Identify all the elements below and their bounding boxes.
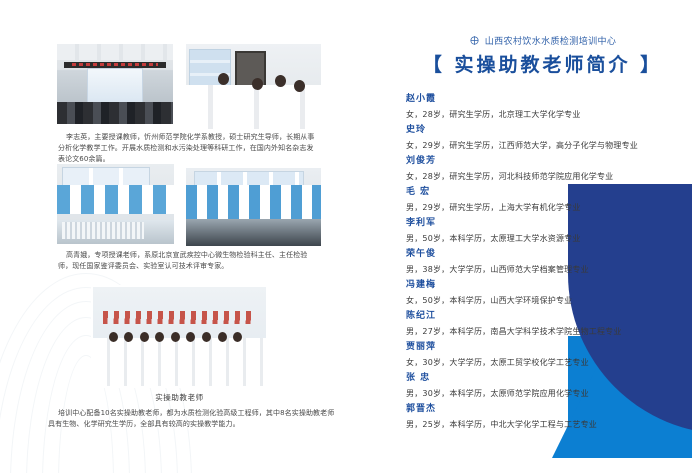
list-item: 李利军 男，50岁，本科学历，太原理工大学水资源专业	[406, 216, 668, 246]
staff-desc: 女，28岁，研究生学历，北京理工大学化学专业	[406, 107, 668, 122]
page-title: 【 实操助教老师简介 】	[405, 50, 680, 77]
photo-lab-training-2	[186, 168, 321, 246]
staff-desc: 男，27岁，本科学历，南昌大学科学技术学院生物工程专业	[406, 324, 668, 339]
staff-desc: 女，30岁，大学学历，太原工贸学校化学工艺专业	[406, 355, 668, 370]
staff-name: 陈纪江	[406, 309, 668, 324]
list-item: 陈纪江 男，27岁，本科学历，南昌大学科学技术学院生物工程专业	[406, 309, 668, 339]
staff-desc: 女，28岁，研究生学历，河北科技师范学院应用化学专业	[406, 169, 668, 184]
staff-desc: 女，50岁，本科学历，山西大学环境保护专业	[406, 293, 668, 308]
staff-name: 史玲	[406, 123, 668, 138]
staff-name: 贾丽萍	[406, 340, 668, 355]
list-item: 郭晋杰 男，25岁，本科学历，中北大学化学工程与工艺专业	[406, 402, 668, 432]
caption-gao-qinge: 高青娥，专项授课老师，系原北京宣武疾控中心微生物检验科主任、主任检验师，现任国家…	[58, 250, 320, 272]
list-item: 刘俊芳 女，28岁，研究生学历，河北科技师范学院应用化学专业	[406, 154, 668, 184]
staff-desc: 男，29岁，研究生学历，上海大学有机化学专业	[406, 200, 668, 215]
photo-classroom-lecture	[57, 44, 173, 124]
poster-page: 山西农村饮水水质检测培训中心 【 实操助教老师简介 】 赵小霞 女，28岁，研究…	[0, 0, 692, 473]
list-item: 赵小霞 女，28岁，研究生学历，北京理工大学化学专业	[406, 92, 668, 122]
staff-desc: 女，29岁，研究生学历，江西师范大学，高分子化学与物理专业	[406, 138, 668, 153]
staff-name: 赵小霞	[406, 92, 668, 107]
staff-name: 李利军	[406, 216, 668, 231]
list-item: 毛 宏 男，29岁，研究生学历，上海大学有机化学专业	[406, 185, 668, 215]
list-item: 冯建梅 女，50岁，本科学历，山西大学环境保护专业	[406, 278, 668, 308]
photo-group-label: 实操助教老师	[91, 392, 268, 403]
list-item: 张 忠 男，30岁，本科学历，太原师范学院应用化学专业	[406, 371, 668, 401]
staff-list: 赵小霞 女，28岁，研究生学历，北京理工大学化学专业 史玲 女，29岁，研究生学…	[406, 92, 668, 433]
staff-name: 毛 宏	[406, 185, 668, 200]
list-item: 史玲 女，29岁，研究生学历，江西师范大学，高分子化学与物理专业	[406, 123, 668, 153]
photo-lab-training-1	[57, 164, 174, 244]
list-item: 贾丽萍 女，30岁，大学学历，太原工贸学校化学工艺专业	[406, 340, 668, 370]
caption-training-center: 培训中心配备10名实操助教老师，都为水质检测化验高级工程师，其中8名实操助教老师…	[48, 408, 338, 430]
circle-emblem-icon	[469, 35, 480, 46]
brand-text: 山西农村饮水水质检测培训中心	[485, 34, 617, 47]
staff-desc: 男，50岁，本科学历，太原理工大学水资源专业	[406, 231, 668, 246]
list-item: 荣午俊 男，38岁，大学学历，山西师范大学档案管理专业	[406, 247, 668, 277]
staff-desc: 男，30岁，本科学历，太原师范学院应用化学专业	[406, 386, 668, 401]
caption-li-zhiying: 李志英，主要授课教师，忻州师范学院化学系教授，硕士研究生导师，长期从事分析化学教…	[58, 132, 320, 165]
staff-name: 荣午俊	[406, 247, 668, 262]
staff-name: 张 忠	[406, 371, 668, 386]
photo-staff-discussion	[186, 44, 321, 129]
photo-group-team	[91, 285, 268, 388]
staff-desc: 男，25岁，本科学历，中北大学化学工程与工艺专业	[406, 417, 668, 432]
staff-name: 冯建梅	[406, 278, 668, 293]
staff-name: 郭晋杰	[406, 402, 668, 417]
staff-name: 刘俊芳	[406, 154, 668, 169]
staff-desc: 男，38岁，大学学历，山西师范大学档案管理专业	[406, 262, 668, 277]
brand-header: 山西农村饮水水质检测培训中心	[405, 34, 680, 47]
